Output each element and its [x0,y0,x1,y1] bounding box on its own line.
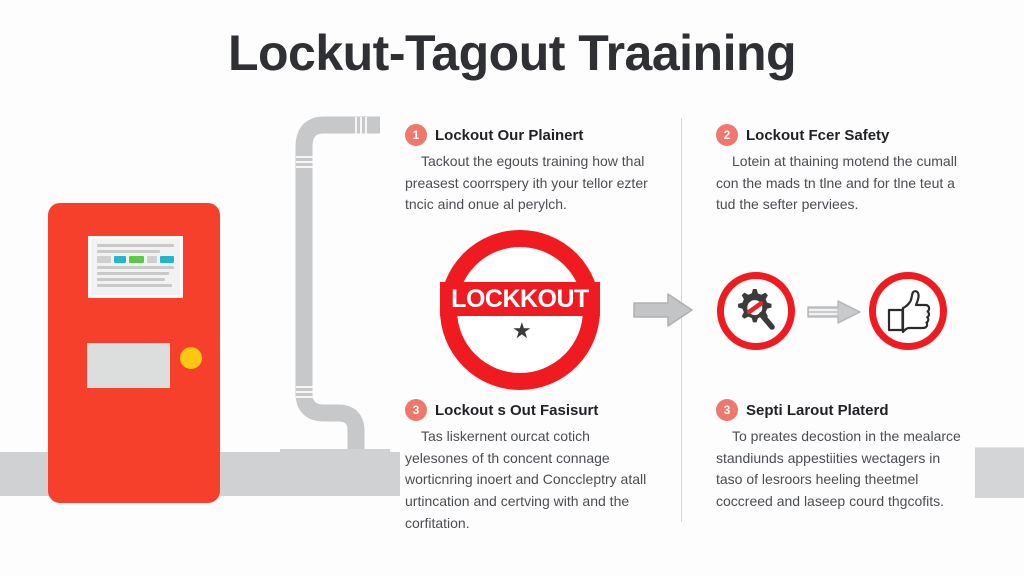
info-block-4: 3 Septi Larout Platerd To preates decost… [716,399,966,513]
info-block-title: Lockout s Out Fasisurt [435,402,598,419]
screen-text-line [97,244,174,247]
sign-label: LOCKKOUT [451,287,589,312]
screen-chip-cyan [114,256,126,263]
grey-pipe [280,105,390,475]
poster-canvas: Lockut-Tagout Traaining [0,0,1024,576]
info-block-header: 3 Septi Larout Platerd [716,399,966,421]
lockout-sign: ★ LOCKKOUT [440,230,600,390]
step-badge-2: 2 [716,124,738,146]
info-block-2: 2 Lockout Fcer Safety Lotein at thaining… [716,124,966,216]
screen-chip-cyan [160,256,174,263]
step-badge-4: 3 [716,399,738,421]
screen-chip [147,256,157,263]
info-block-body: To preates decostion in the mealarce sta… [716,426,966,513]
screen-text-line [97,266,174,269]
info-block-title: Lockout Fcer Safety [746,127,889,144]
gear-search-glyph [730,285,782,337]
info-block-title: Lockout Our Plainert [435,127,583,144]
cabinet-label-plate [87,343,170,388]
info-block-3: 3 Lockout s Out Fasisurt Tas liskernent … [405,399,655,534]
gear-magnifier-prohibited-icon[interactable] [717,272,795,350]
screen-text-line [97,278,165,281]
screen-text-line [97,272,169,275]
screen-text-line [97,284,172,287]
info-block-header: 3 Lockout s Out Fasisurt [405,399,655,421]
info-block-header: 1 Lockout Our Plainert [405,124,655,146]
step-badge-3: 3 [405,399,427,421]
info-block-1: 1 Lockout Our Plainert Tackout the egout… [405,124,655,216]
info-block-body: Lotein at thaining motend the cumall con… [716,151,966,216]
arrow-right-thin-icon [806,299,862,325]
sign-text-band: LOCKKOUT [440,282,600,316]
cabinet-yellow-knob[interactable] [180,347,202,369]
cabinet-screen-panel [88,236,183,298]
right-edge-block [975,447,1024,498]
info-block-title: Septi Larout Platerd [746,402,889,419]
page-title: Lockut-Tagout Traaining [0,24,1024,82]
thumbs-up-icon[interactable] [869,272,947,350]
screen-chip [97,256,111,263]
thumbs-up-glyph [883,286,933,336]
info-block-body: Tas liskernent ourcat cotich yelesones o… [405,426,655,534]
screen-highlight-row [97,256,174,263]
step-badge-1: 1 [405,124,427,146]
screen-text-line [97,250,160,253]
sign-star-icon: ★ [512,322,529,339]
info-block-body: Tackout the egouts training how thal pre… [405,151,655,216]
arrow-right-icon [632,292,694,328]
info-block-header: 2 Lockout Fcer Safety [716,124,966,146]
screen-chip-green [129,256,144,263]
